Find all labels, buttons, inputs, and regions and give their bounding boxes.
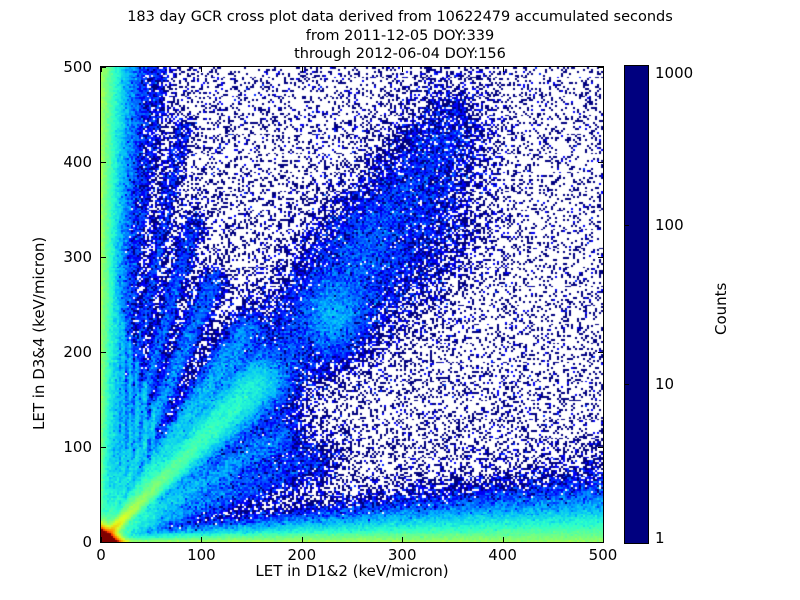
y-tick [101, 162, 106, 163]
y-tick-label: 400 [40, 153, 92, 171]
x-tick-top [201, 67, 202, 72]
y-tick [101, 67, 106, 68]
x-tick-top [302, 67, 303, 72]
x-tick [402, 537, 403, 542]
colorbar-label: Counts [712, 283, 730, 335]
y-axis-label: LET in D3&4 (keV/micron) [30, 237, 48, 430]
plot-area[interactable] [100, 66, 604, 543]
colorbar-gradient [624, 65, 649, 544]
colorbar-tick [624, 225, 629, 226]
x-tick [603, 537, 604, 542]
y-tick [101, 352, 106, 353]
x-tick-top [402, 67, 403, 72]
chart-title: 183 day GCR cross plot data derived from… [0, 8, 800, 64]
y-tick [101, 257, 106, 258]
colorbar-tick-label: 10 [655, 375, 674, 393]
x-axis-label: LET in D1&2 (keV/micron) [100, 562, 604, 580]
y-tick [101, 447, 106, 448]
density-heatmap [101, 67, 603, 542]
y-tick-label: 0 [40, 533, 92, 551]
title-line-through: through 2012-06-04 DOY:156 [0, 45, 800, 64]
y-tick-right [598, 542, 603, 543]
y-tick-label: 500 [40, 58, 92, 76]
x-tick [503, 537, 504, 542]
x-tick [302, 537, 303, 542]
colorbar-tick-label: 1 [655, 529, 665, 547]
colorbar[interactable]: 1101001000 [624, 65, 649, 544]
y-tick-label: 100 [40, 438, 92, 456]
x-tick [201, 537, 202, 542]
y-tick-right [598, 257, 603, 258]
title-line-from: from 2011-12-05 DOY:339 [0, 27, 800, 46]
colorbar-tick [624, 384, 629, 385]
colorbar-tick-label: 1000 [655, 64, 693, 82]
colorbar-tick-label: 100 [655, 216, 684, 234]
y-tick-right [598, 67, 603, 68]
title-line-main: 183 day GCR cross plot data derived from… [0, 8, 800, 27]
x-tick-top [503, 67, 504, 72]
y-tick-right [598, 162, 603, 163]
figure-root: 183 day GCR cross plot data derived from… [0, 0, 800, 600]
x-tick-top [603, 67, 604, 72]
y-tick [101, 542, 106, 543]
y-tick-right [598, 447, 603, 448]
y-tick-right [598, 352, 603, 353]
